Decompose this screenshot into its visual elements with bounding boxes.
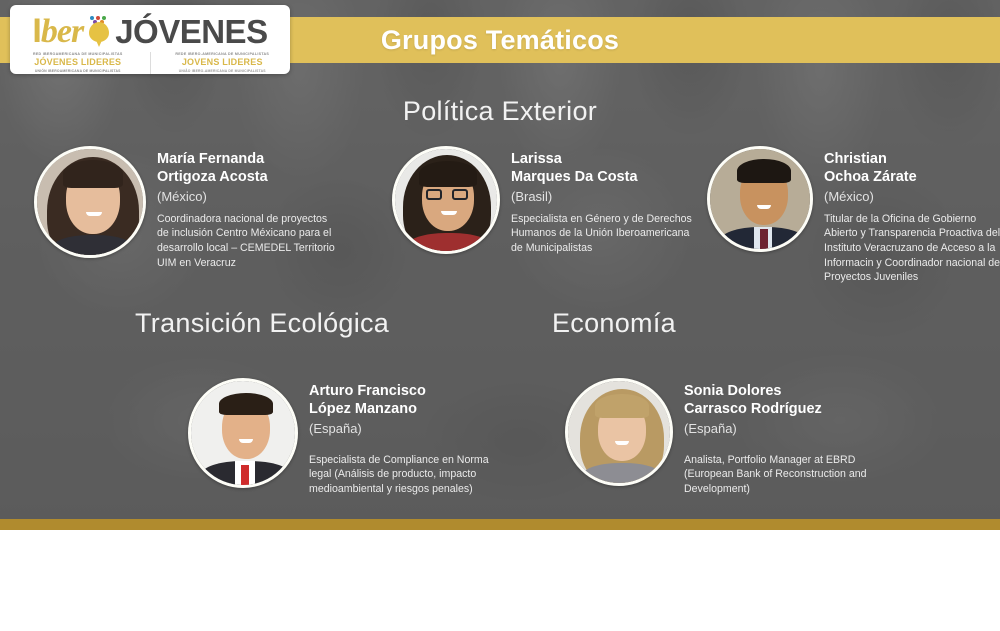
- logo-pt-mid: JOVENS LIDERES: [164, 57, 280, 68]
- person-country: (México): [824, 187, 1000, 207]
- person-card-larissa: Larissa Marques Da Costa (Brasil) Especi…: [392, 146, 701, 256]
- person-text-sonia: Sonia Dolores Carrasco Rodríguez (España…: [684, 378, 874, 497]
- avatar-maria-fernanda: [34, 146, 146, 258]
- avatar-christian: [707, 146, 813, 252]
- logo-es-mid: JÓVENES LIDERES: [20, 57, 136, 68]
- person-role: Analista, Portfolio Manager at EBRD (Eur…: [684, 453, 874, 497]
- logo-iber-text: Iber: [32, 14, 83, 49]
- person-card-christian: Christian Ochoa Zárate (México) Titular …: [707, 146, 1000, 285]
- group-title-transicion-ecologica: Transición Ecológica: [135, 308, 389, 339]
- gold-divider-rule: [0, 519, 1000, 530]
- group-title-politica-exterior: Política Exterior: [0, 96, 1000, 127]
- logo-jovenes-text: JÓVENES: [115, 15, 267, 48]
- person-name: María Fernanda Ortigoza Acosta: [157, 151, 342, 186]
- person-name: Sonia Dolores Carrasco Rodríguez: [684, 383, 874, 418]
- logo-pt-bottom: UNIÃO IBERO-AMERICANA DE MUNICIPALISTAS: [164, 69, 280, 74]
- person-name: Arturo Francisco López Manzano: [309, 383, 499, 418]
- logo-subtitle-block: RED IBEROAMERICANA DE MUNICIPALISTAS JÓV…: [20, 52, 280, 74]
- person-role: Especialista en Género y de Derechos Hum…: [511, 212, 701, 256]
- person-text-maria-fernanda: María Fernanda Ortigoza Acosta (México) …: [157, 146, 342, 270]
- person-name: Christian Ochoa Zárate: [824, 151, 1000, 186]
- logo-wordmark-row: Iber JÓVENES: [20, 11, 280, 51]
- person-text-larissa: Larissa Marques Da Costa (Brasil) Especi…: [511, 146, 701, 256]
- person-country: (México): [157, 187, 342, 207]
- person-country: (Brasil): [511, 187, 701, 207]
- group-title-economia: Economía: [552, 308, 676, 339]
- person-text-arturo: Arturo Francisco López Manzano (España) …: [309, 378, 499, 497]
- avatar-larissa: [392, 146, 500, 254]
- avatar-arturo: [188, 378, 298, 488]
- footer-bar: #CaminoAOrizaba uim UNIÓN IBEROAMERICANA…: [0, 530, 1000, 631]
- person-text-christian: Christian Ochoa Zárate (México) Titular …: [824, 146, 1000, 285]
- person-role: Titular de la Oficina de Gobierno Abiert…: [824, 212, 1000, 285]
- person-country: (España): [309, 419, 499, 439]
- logo-subtitle-es: RED IBEROAMERICANA DE MUNICIPALISTAS JÓV…: [20, 52, 136, 74]
- logo-subtitle-pt: REDE IBERO-AMERICANA DE MUNICIPALISTAS J…: [164, 52, 280, 74]
- person-card-maria-fernanda: María Fernanda Ortigoza Acosta (México) …: [34, 146, 342, 270]
- person-role: Especialista de Compliance en Norma lega…: [309, 453, 499, 497]
- logo-divider: [150, 52, 151, 74]
- logo-droplet-icon: [86, 14, 112, 48]
- person-name: Larissa Marques Da Costa: [511, 151, 701, 186]
- logo-es-bottom: UNIÓN IBEROAMERICANA DE MUNICIPALISTAS: [20, 69, 136, 74]
- person-role: Coordinadora nacional de proyectos de in…: [157, 212, 342, 270]
- slide-root: Grupos Temáticos Iber JÓVENES RED IBEROA…: [0, 0, 1000, 631]
- iberjovenes-logo: Iber JÓVENES RED IBEROAMERICANA DE MUNIC…: [10, 5, 290, 74]
- person-card-arturo: Arturo Francisco López Manzano (España) …: [188, 378, 499, 497]
- person-card-sonia: Sonia Dolores Carrasco Rodríguez (España…: [565, 378, 874, 497]
- person-country: (España): [684, 419, 874, 439]
- avatar-sonia: [565, 378, 673, 486]
